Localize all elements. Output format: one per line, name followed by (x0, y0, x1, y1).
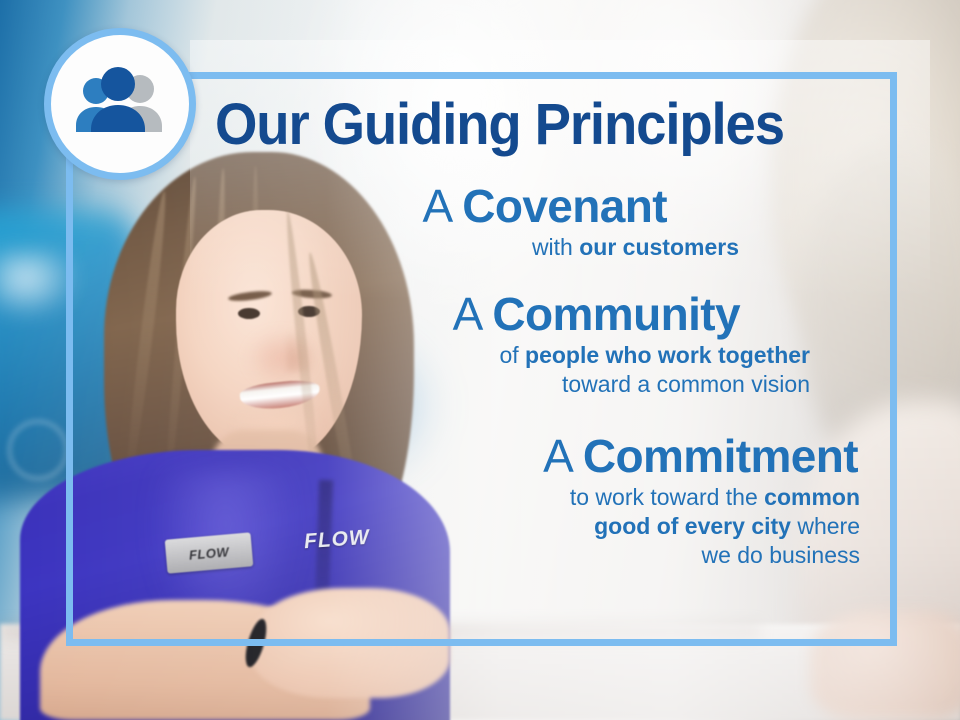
banner-root: FLOW FLOW Our Guiding Principles (0, 0, 960, 720)
principle-community-subtext: of people who work togethertoward a comm… (190, 341, 810, 400)
principle-community-heading: A Community (190, 290, 740, 339)
covenant-sub-bold: our customers (579, 234, 739, 260)
covenant-sub-plain: with (532, 234, 579, 260)
principle-covenant-keyword: Covenant (462, 180, 667, 232)
principle-commitment-keyword: Commitment (583, 430, 858, 482)
community-sub-line2: toward a common vision (562, 371, 810, 397)
commitment-sub-bold-2: good of every city (594, 513, 791, 539)
rep-clasped-hands (250, 588, 450, 698)
principle-commitment-subtext: to work toward the commongood of every c… (190, 483, 860, 571)
commitment-sub-plain-1: to work toward the (570, 484, 764, 510)
people-group-icon (68, 67, 172, 141)
principle-covenant-article: A (422, 180, 462, 232)
people-group-badge (44, 28, 196, 180)
principle-commitment-article: A (543, 430, 583, 482)
principle-community-article: A (453, 288, 493, 340)
commitment-sub-bold-1: common (764, 484, 860, 510)
page-title: Our Guiding Principles (215, 96, 835, 154)
principle-covenant-heading: A Covenant (190, 182, 667, 231)
principle-community-keyword: Community (492, 288, 740, 340)
community-sub-bold: people who work together (525, 342, 810, 368)
principle-commitment: A Commitment to work toward the commongo… (190, 432, 880, 571)
community-sub-plain: of (499, 342, 525, 368)
principle-commitment-heading: A Commitment (190, 432, 858, 481)
commitment-sub-plain-4: we do business (701, 542, 860, 568)
principle-covenant: A Covenant with our customers (190, 182, 880, 262)
principles-list: A Covenant with our customers A Communit… (190, 182, 880, 577)
commitment-sub-plain-3: where (791, 513, 860, 539)
principle-community: A Community of people who work togethert… (190, 290, 880, 400)
customer-hand (810, 610, 960, 720)
principle-covenant-subtext: with our customers (190, 233, 739, 262)
